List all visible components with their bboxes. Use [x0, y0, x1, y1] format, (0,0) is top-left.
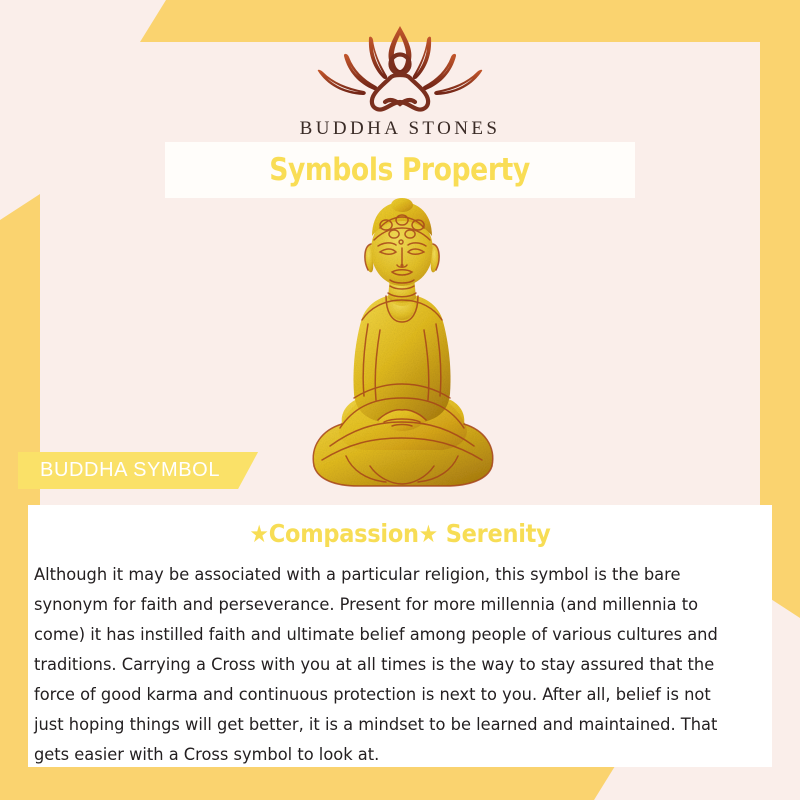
- brand-logo: BUDDHA STONES: [0, 22, 800, 140]
- headline-term-compassion: Compassion: [269, 519, 419, 548]
- category-ribbon-label: BUDDHA SYMBOL: [40, 459, 220, 482]
- title-banner: Symbols Property: [165, 142, 635, 198]
- star-icon-right: ★: [419, 520, 438, 548]
- star-icon-left: ★: [249, 520, 268, 548]
- headline-term-serenity: Serenity: [446, 519, 551, 548]
- content-panel: ★Compassion★ Serenity Although it may be…: [28, 505, 772, 767]
- brand-wordmark: BUDDHA STONES: [0, 118, 800, 140]
- category-ribbon: BUDDHA SYMBOL: [18, 452, 258, 489]
- buddha-statue-image: [300, 198, 505, 496]
- lotus-meditation-icon: [311, 22, 489, 114]
- page-title: Symbols Property: [270, 152, 531, 188]
- poster-canvas: BUDDHA STONES Symbols Property: [0, 0, 800, 800]
- content-paragraph: Although it may be associated with a par…: [34, 560, 718, 770]
- content-headline: ★Compassion★ Serenity: [65, 519, 735, 548]
- seated-golden-buddha-statue-icon: [300, 198, 505, 496]
